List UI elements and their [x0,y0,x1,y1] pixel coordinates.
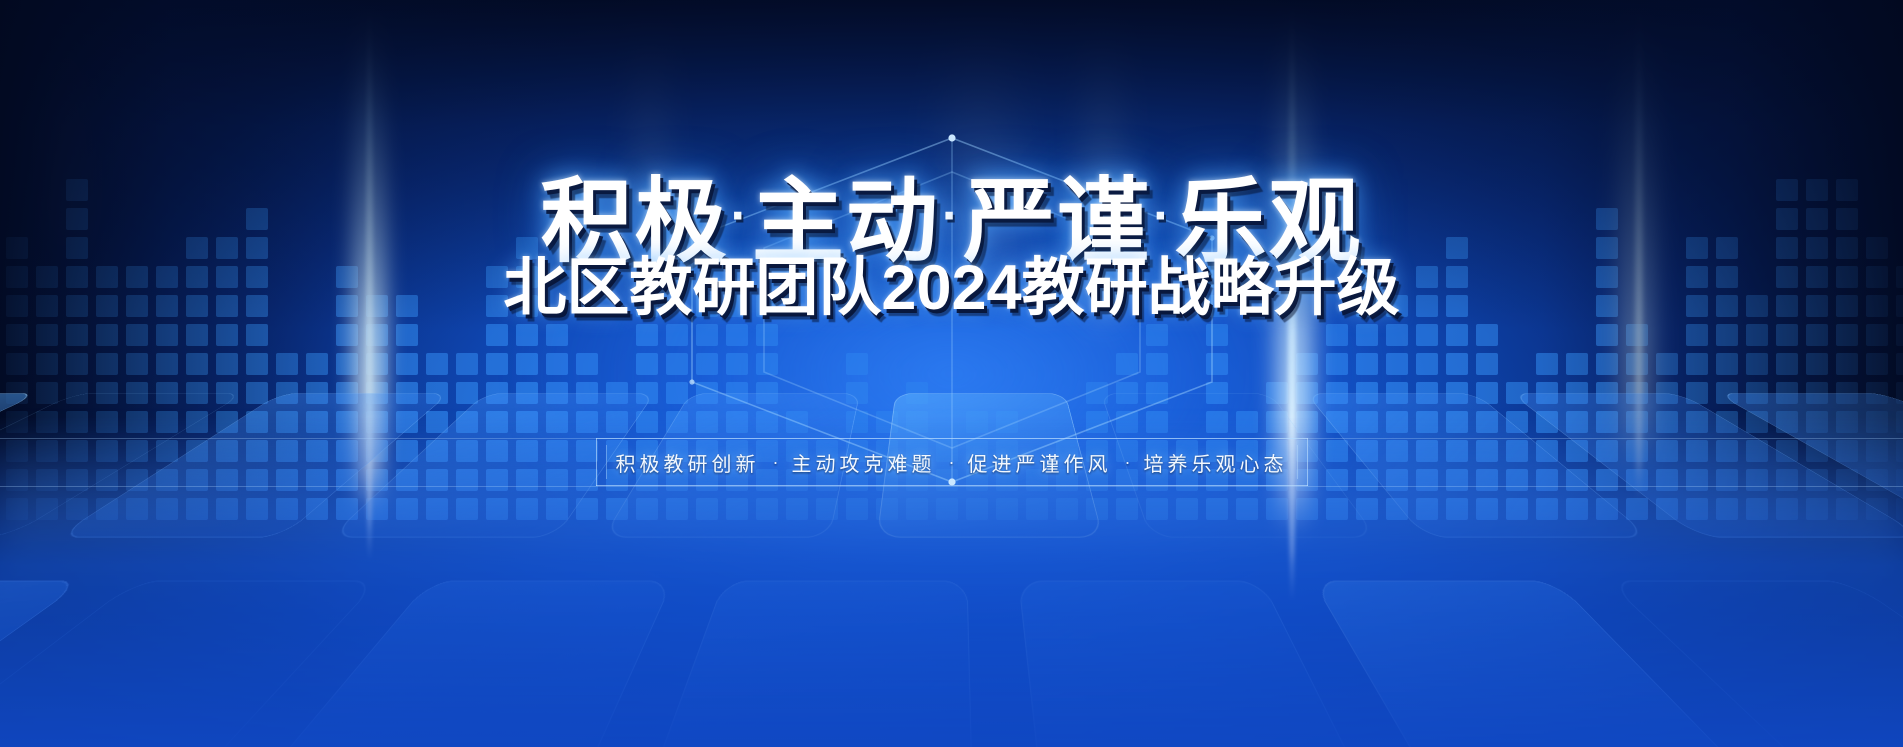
tagline-item-3: 促进严谨作风 [968,448,1112,477]
tagline-bar: 积极教研创新 · 主动攻克难题 · 促进严谨作风 · 培养乐观心态 [596,438,1308,486]
page-subtitle: 北区教研团队2024教研战略升级 [503,257,1399,320]
banner-canvas: 积极·主动·严谨·乐观 北区教研团队2024教研战略升级 积极教研创新 · 主动… [0,0,1903,747]
tagline-separator-2: · [949,452,955,473]
tagline-item-2: 主动攻克难题 [792,448,936,477]
tagline-item-4: 培养乐观心态 [1144,448,1288,477]
tagline-rule-bottom [0,486,1903,487]
title-separator-1: · [728,187,751,245]
tagline-rule-top [0,438,1903,439]
tagline-separator-3: · [1125,452,1131,473]
tagline-separator-1: · [773,452,779,473]
title-separator-2: · [940,187,963,245]
title-separator-3: · [1151,187,1174,245]
tagline-text: 积极教研创新 · 主动攻克难题 · 促进严谨作风 · 培养乐观心态 [596,438,1308,486]
tagline-item-1: 积极教研创新 [616,448,760,477]
